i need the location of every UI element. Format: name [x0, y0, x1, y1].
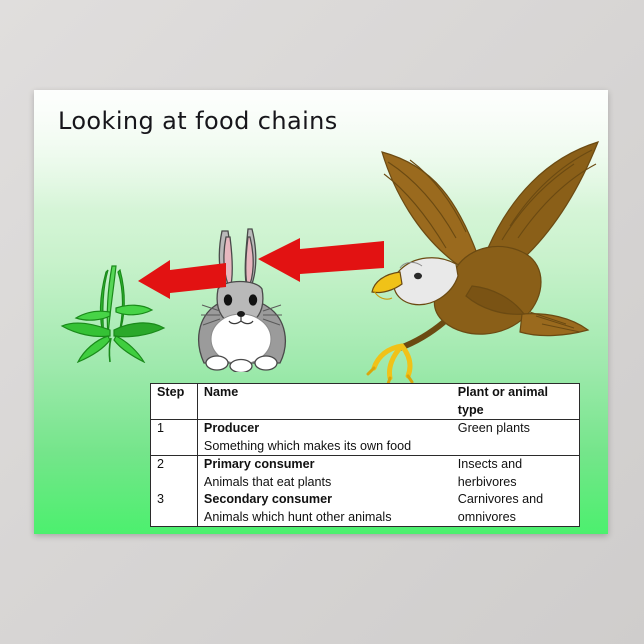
table-header-row-continued: type — [151, 402, 579, 420]
arrow-eagle-to-rabbit-icon — [256, 232, 386, 282]
row-1-type-line2 — [452, 438, 579, 456]
row-1-step: 1 — [151, 420, 197, 456]
row-2-step: 2 — [151, 456, 197, 492]
poster-canvas: Looking at food chains — [0, 0, 644, 644]
table-row: 1 Producer Green plants — [151, 420, 579, 438]
row-2-type-line1: Insects and — [452, 456, 579, 474]
row-3-type-line1: Carnivores and — [452, 491, 579, 509]
table-row: 2 Primary consumer Insects and — [151, 456, 579, 474]
row-3-description: Animals which hunt other animals — [197, 509, 451, 527]
header-step-blank — [151, 402, 197, 420]
table-row-detail: Something which makes its own food — [151, 438, 579, 456]
row-1-description: Something which makes its own food — [197, 438, 451, 456]
page-title: Looking at food chains — [58, 107, 338, 135]
row-2-name: Primary consumer — [197, 456, 451, 474]
row-3-type-line2: omnivores — [452, 509, 579, 527]
row-3-step: 3 — [151, 491, 197, 526]
header-step: Step — [151, 384, 197, 402]
eagle-illustration — [360, 136, 608, 386]
table-row-detail: Animals which hunt other animals omnivor… — [151, 509, 579, 527]
header-type-line2: type — [452, 402, 579, 420]
row-2-type-line2: herbivores — [452, 474, 579, 492]
header-name: Name — [197, 384, 451, 402]
row-2-description: Animals that eat plants — [197, 474, 451, 492]
header-name-blank — [197, 402, 451, 420]
header-type-line1: Plant or animal — [452, 384, 579, 402]
row-1-type-line1: Green plants — [452, 420, 579, 438]
row-1-name: Producer — [197, 420, 451, 438]
table-row: 3 Secondary consumer Carnivores and — [151, 491, 579, 509]
table-row-detail: Animals that eat plants herbivores — [151, 474, 579, 492]
poster: Looking at food chains — [34, 90, 608, 534]
row-3-name: Secondary consumer — [197, 491, 451, 509]
table-header-row: Step Name Plant or animal — [151, 384, 579, 402]
arrow-rabbit-to-plant-icon — [136, 255, 228, 299]
food-chain-table: Step Name Plant or animal type 1 Produce… — [150, 383, 580, 527]
